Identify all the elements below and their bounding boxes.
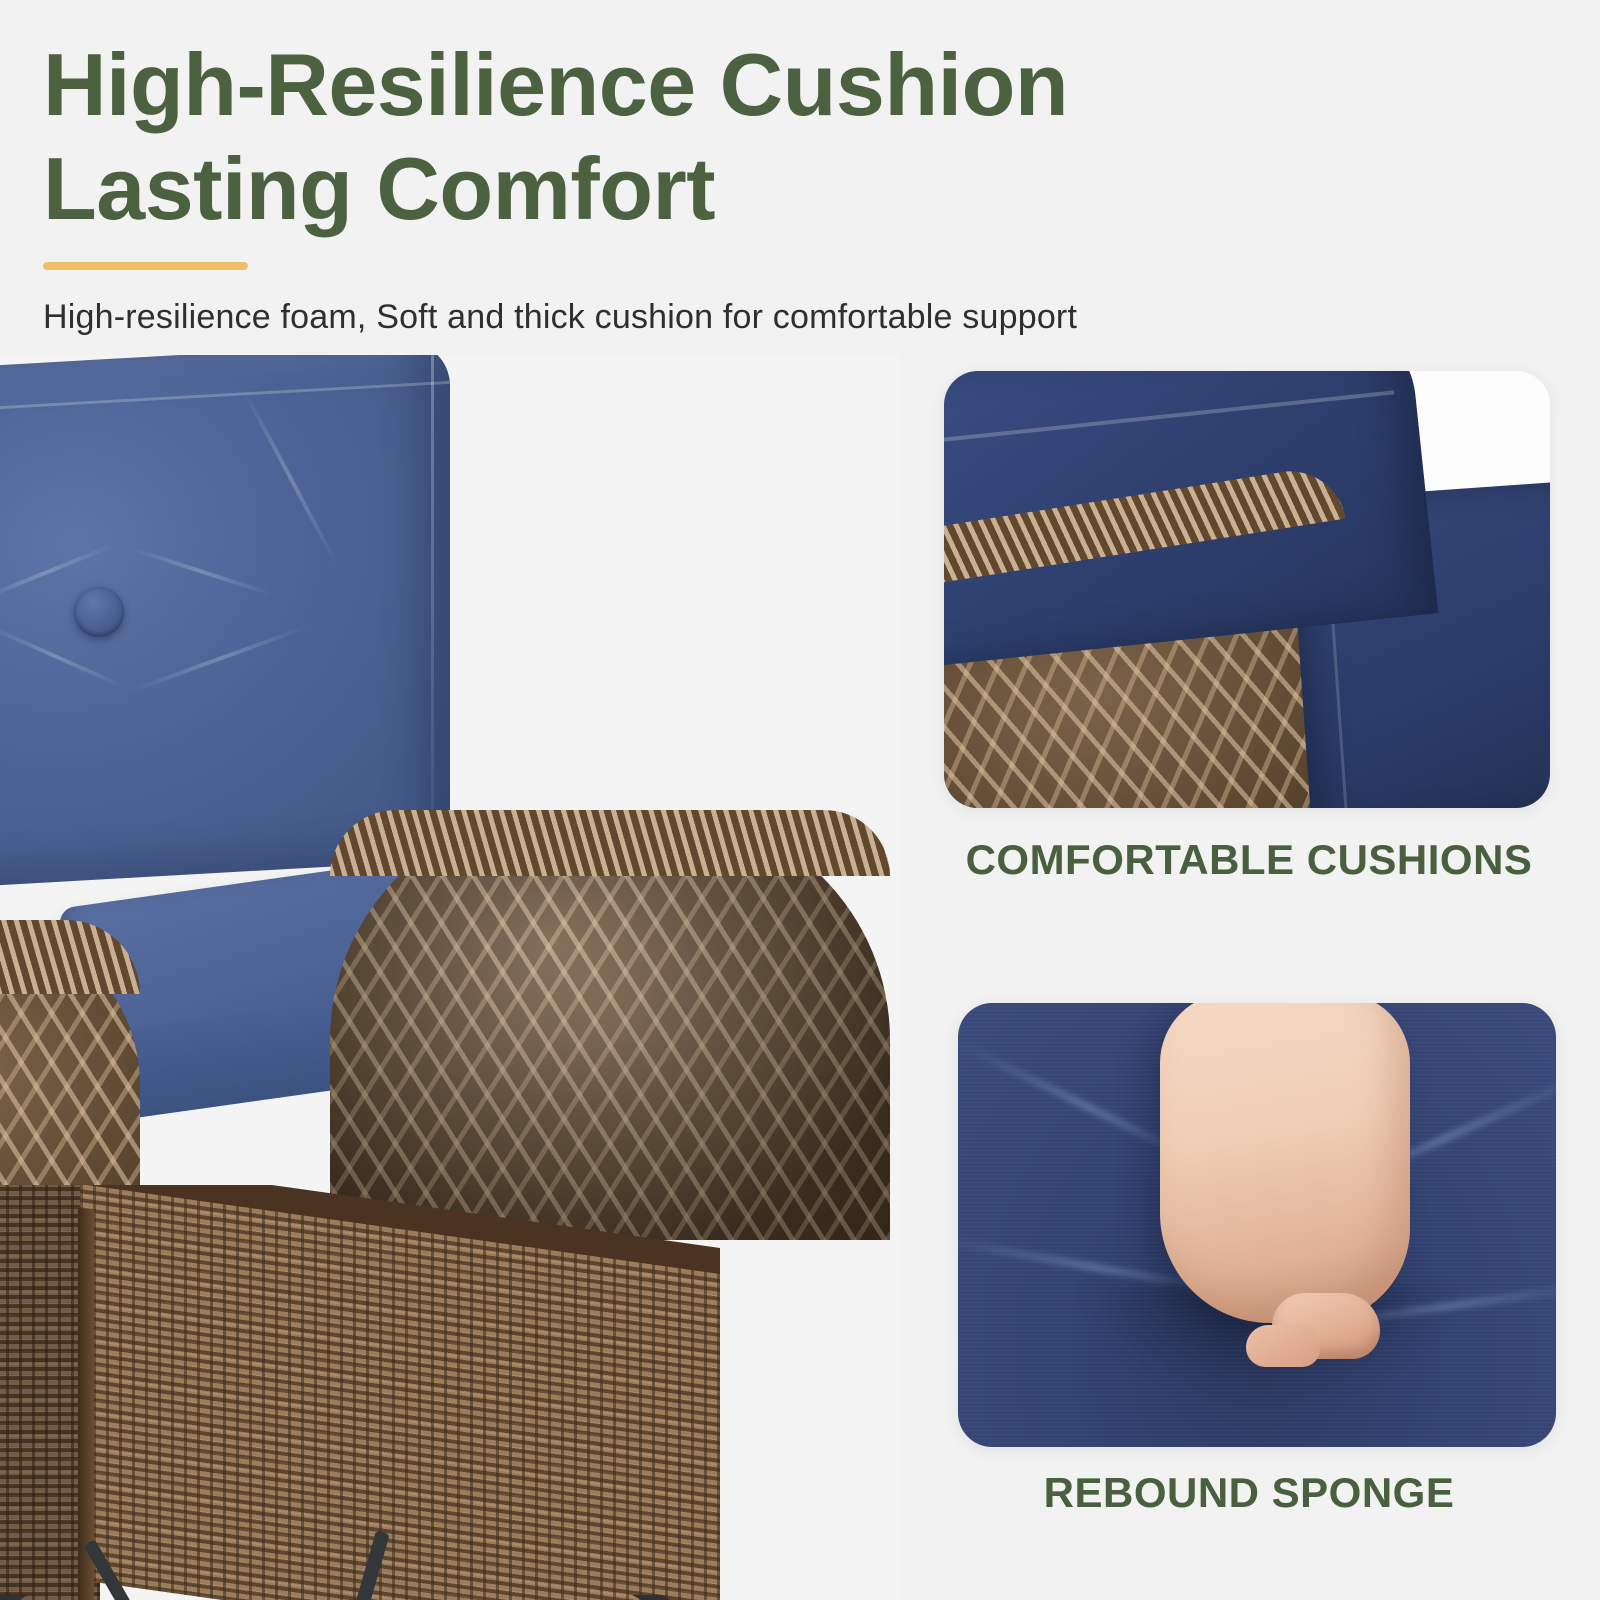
back-cushion: [0, 355, 450, 890]
accent-divider: [43, 262, 248, 270]
detail-panel-comfortable-cushions: [944, 371, 1550, 808]
forearm: [1160, 1003, 1410, 1323]
caption-rebound-sponge: REBOUND SPONGE: [944, 1468, 1554, 1518]
caption-comfortable-cushions: COMFORTABLE CUSHIONS: [944, 835, 1554, 885]
fist-knuckle: [1246, 1325, 1320, 1367]
main-product-image: [0, 355, 900, 1600]
chair-body: [0, 1185, 830, 1600]
tufted-button: [74, 587, 124, 637]
detail-panel-rebound-sponge: [958, 1003, 1556, 1447]
page-subtitle: High-resilience foam, Soft and thick cus…: [43, 296, 1493, 338]
product-feature-page: High-Resilience Cushion Lasting Comfort …: [0, 0, 1600, 1600]
page-title: High-Resilience Cushion Lasting Comfort: [43, 33, 1243, 241]
right-armrest-rim: [330, 810, 890, 876]
